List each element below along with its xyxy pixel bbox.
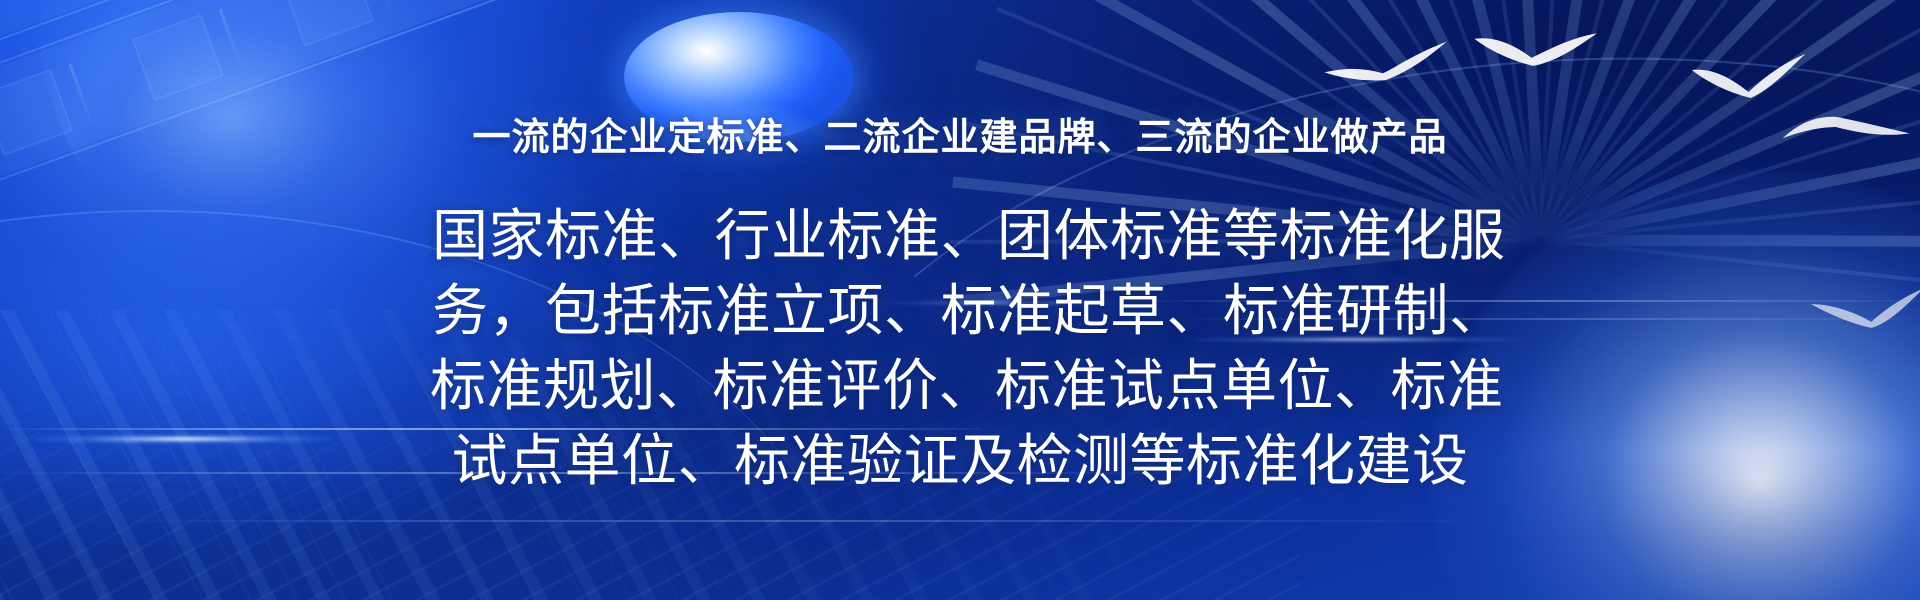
paragraph-line: 标准规划、标准评价、标准试点单位、标准 [430,348,1490,423]
promo-banner: 一流的企业定标准、二流企业建品牌、三流的企业做产品 国家标准、行业标准、团体标准… [0,0,1920,600]
paragraph-line: 国家标准、行业标准、团体标准等标准化服 [430,198,1490,273]
banner-headline: 一流的企业定标准、二流企业建品牌、三流的企业做产品 [472,118,1447,160]
banner-content: 一流的企业定标准、二流企业建品牌、三流的企业做产品 国家标准、行业标准、团体标准… [0,0,1920,600]
banner-paragraph: 国家标准、行业标准、团体标准等标准化服 务，包括标准立项、标准起草、标准研制、 … [430,198,1490,498]
paragraph-line: 务，包括标准立项、标准起草、标准研制、 [430,273,1490,348]
paragraph-line: 试点单位、标准验证及检测等标准化建设 [430,423,1490,498]
